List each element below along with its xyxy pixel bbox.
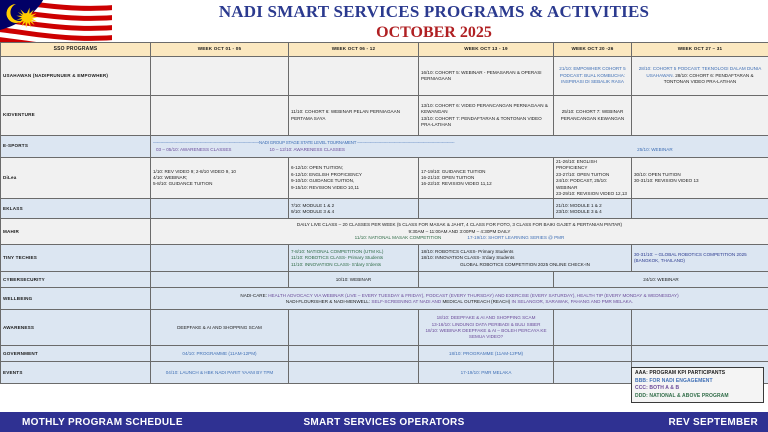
cell-kidventure-w3: 13/10: COHORT 6: VIDEO PERANCANGAN PERNI…: [419, 96, 554, 136]
table-header: SSO PROGRAMS WEEK OCT 01 - 05 WEEK OCT 0…: [1, 43, 768, 57]
cell-eklass-w2: 7/10: MODULE 1 & 2 9/10: MODULE 3 & 4: [289, 199, 419, 219]
row-label-government: GOVERNMENT: [1, 346, 151, 362]
column-header-week4: WEEK OCT 20 -26: [554, 43, 632, 57]
cell-esports-w2: 10 – 12/10: AWARENESS CLASSES: [266, 147, 383, 153]
cell-kidventure-w2: 11/10: COHORT 6: WEBINAR PELAN PERNIAGAA…: [289, 96, 419, 136]
wellbeing-line2: NADI-FLOURISHER & NADI-MENWELL: SELF-SCR…: [153, 299, 766, 305]
cell-kidventure-w1: [151, 96, 289, 136]
cell-awareness-w5: [632, 310, 768, 346]
row-label-cybersecurity: CYBERSECURITY: [1, 272, 151, 288]
cell-tiny-w3-lines: 18/10: ROBOTICS CLASS- Primary Students …: [421, 249, 629, 262]
row-label-events: EVENTS: [1, 362, 151, 384]
cell-tiny-w5: 30-31/10: – GLOBAL ROBOTICS COMPETITION …: [632, 245, 768, 272]
table-row-mahir: MAHIR DAILY LIVE CLASS – 20 CLASSES PER …: [1, 219, 768, 245]
table-row-wellbeing: WELLBEING NADI-CARE: HEALTH ADVOCACY VIA…: [1, 288, 768, 310]
row-label-eklass: EKLASS: [1, 199, 151, 219]
cell-events-w2: [289, 362, 419, 384]
cell-usahawan-w2: [289, 57, 419, 96]
cell-awareness-w3: 18/10: DEEPFAKE & AI AND SHOPPING SCAM 1…: [419, 310, 554, 346]
cell-gov-w2: [289, 346, 419, 362]
legend-aaa: AAA: PROGRAM KPI PARTICIPANTS: [635, 370, 760, 378]
page-title-block: NADI SMART SERVICES PROGRAMS & ACTIVITIE…: [112, 2, 756, 42]
cell-esports-span: ----------------------------------------…: [151, 136, 768, 158]
cell-mahir-span: DAILY LIVE CLASS – 20 CLASSES PER WEEK (…: [151, 219, 768, 245]
legend-ccc: CCC: BOTH A & B: [635, 385, 760, 393]
cell-cyber-w4: 24/10: WEBINAR: [554, 272, 768, 288]
column-header-week1: WEEK OCT 01 - 05: [151, 43, 289, 57]
cell-eklass-w4: 21/10: MODULE 1 & 2 23/10: MODULE 3 & 4: [554, 199, 632, 219]
cell-esports-w3: [383, 147, 544, 153]
cell-eklass-w1: [151, 199, 289, 219]
cell-tiny-w1: [151, 245, 289, 272]
cell-events-w1: 04/10: LAUNCH & HBK NADI PARIT YAANI BY …: [151, 362, 289, 384]
cell-usahawan-w5: 28/10: COHORT 5 PODCAST: TEKNOLOGI DALAM…: [632, 57, 768, 96]
column-header-sso: SSO PROGRAMS: [1, 43, 151, 57]
cell-dilea-w4: 21-26/10: ENGLISH PROFICIENCY 23-27/10: …: [554, 158, 632, 199]
schedule-page: NADI SMART SERVICES PROGRAMS & ACTIVITIE…: [0, 0, 768, 432]
column-header-week2: WEEK OCT 06 - 12: [289, 43, 419, 57]
cell-esports-w1: 03 – 05/10: AWARENESS CLASSES: [153, 147, 266, 153]
table-row-kidventure: KIDVENTURE 11/10: COHORT 6: WEBINAR PELA…: [1, 96, 768, 136]
table-row-tiny-techies: TINY TECHIES 7-8/10: NATIONAL COMPETITIO…: [1, 245, 768, 272]
table-header-row: SSO PROGRAMS WEEK OCT 01 - 05 WEEK OCT 0…: [1, 43, 768, 57]
cell-gov-w4: [554, 346, 632, 362]
table-row-dilea: DiLea 1/10: REV VIDEO 9; 2-8/10 VIDEO 9,…: [1, 158, 768, 199]
cell-kidventure-w4: 25/10: COHORT 7: WEBINAR PERANCANGAN KEW…: [554, 96, 632, 136]
wellbeing-nadicare-text: HEALTH ADVOCACY VIA WEBINAR (LIVE – EVER…: [267, 293, 679, 298]
cell-usahawan-w3: 16/10: COHORT 5: WEBINAR - PEMASARAN & O…: [419, 57, 554, 96]
cell-dilea-w5: 30/10: OPEN TUITION 30-31/10: REVISION V…: [632, 158, 768, 199]
legend-box: AAA: PROGRAM KPI PARTICIPANTS BBB: FOR N…: [631, 367, 764, 403]
wellbeing-reach-text: IN SELANGOR, SARAWAK, PAHANG AND PMR MEL…: [510, 299, 633, 304]
cell-tiny-w3: 18/10: ROBOTICS CLASS- Primary Students …: [419, 245, 632, 272]
cell-events-w3: 17-19/10: PMR MELAKA: [419, 362, 554, 384]
row-label-dilea: DiLea: [1, 158, 151, 199]
cell-cyber-w3: [419, 272, 554, 288]
cell-gov-w5: [632, 346, 768, 362]
footer-bar: MOTHLY PROGRAM SCHEDULE SMART SERVICES O…: [0, 412, 768, 432]
wellbeing-nadicare-label: NADI-CARE:: [240, 293, 267, 298]
page-subtitle: OCTOBER 2025: [112, 23, 756, 42]
cell-dilea-w3: 17-19/10: GUIDANCE TUITION 16-21/10: OPE…: [419, 158, 554, 199]
mahir-line3: 11/10: NATIONAL MASAK COMPETITION 17-19/…: [153, 235, 766, 241]
schedule-table: SSO PROGRAMS WEEK OCT 01 - 05 WEEK OCT 0…: [0, 42, 768, 384]
column-header-week3: WEEK OCT 13 - 19: [419, 43, 554, 57]
cell-dilea-w1: 1/10: REV VIDEO 9; 2-8/10 VIDEO 9, 10 4/…: [151, 158, 289, 199]
footer-middle-text: SMART SERVICES OPERATORS: [0, 417, 768, 428]
cell-awareness-w2: [289, 310, 419, 346]
column-header-week5: WEEK OCT 27 – 31: [632, 43, 768, 57]
cell-cyber-w2: 10/10: WEBINAR: [289, 272, 419, 288]
wellbeing-reach-label: MEDICAL OUTREACH (REACH): [442, 299, 510, 304]
cell-events-w4: [554, 362, 632, 384]
row-label-esports: E-SPORTS: [1, 136, 151, 158]
table-row-cybersecurity: CYBERSECURITY 10/10: WEBINAR 24/10: WEBI…: [1, 272, 768, 288]
cell-wellbeing-span: NADI-CARE: HEALTH ADVOCACY VIA WEBINAR (…: [151, 288, 768, 310]
cell-gov-w1: 04/10: PROGRAMME (11AM-12PM): [151, 346, 289, 362]
wellbeing-flourisher-label: NADI-FLOURISHER & NADI-MENWELL:: [286, 299, 370, 304]
wellbeing-flourisher-text: SELF-SCREENING AT NADI AND: [370, 299, 442, 304]
row-label-kidventure: KIDVENTURE: [1, 96, 151, 136]
mahir-masak-competition: 11/10: NATIONAL MASAK COMPETITION: [355, 235, 442, 241]
row-label-mahir: MAHIR: [1, 219, 151, 245]
table-row-esports: E-SPORTS -------------------------------…: [1, 136, 768, 158]
cell-dilea-w2: 6-12/10: OPEN TUITION; 6-12/10: ENGLISH …: [289, 158, 419, 199]
cell-kidventure-w5: [632, 96, 768, 136]
table-row-awareness: AWARENESS DEEPFAKE & AI AND SHOPPING SCA…: [1, 310, 768, 346]
malaysia-flag-icon: [0, 0, 112, 44]
table-row-usahawan: USAHAWAN (NADIPRUNUER & EMPOWHER) 16/10:…: [1, 57, 768, 96]
legend-bbb: BBB: FOR NADI ENGAGEMENT: [635, 378, 760, 386]
cell-usahawan-w1: [151, 57, 289, 96]
row-label-awareness: AWARENESS: [1, 310, 151, 346]
cell-awareness-w1: DEEPFAKE & AI AND SHOPPING SCAM: [151, 310, 289, 346]
cell-tiny-global-checkin: GLOBAL ROBOTICS COMPETITION 2025 ONLINE …: [421, 262, 629, 268]
row-label-usahawan: USAHAWAN (NADIPRUNUER & EMPOWHER): [1, 57, 151, 96]
cell-eklass-w5: [632, 199, 768, 219]
cell-eklass-w3: [419, 199, 554, 219]
cell-esports-w4: 25/10: WEBINAR: [544, 147, 766, 153]
cell-usahawan-w4: 21/10: EMPOWHER COHORT 5 PODCAST: BUAL K…: [554, 57, 632, 96]
mahir-short-learning-series: 17-19/10: SHORT LEARNING SERIES @ PMR: [467, 235, 564, 241]
row-label-tiny-techies: TINY TECHIES: [1, 245, 151, 272]
page-title: NADI SMART SERVICES PROGRAMS & ACTIVITIE…: [112, 2, 756, 22]
table-row-eklass: EKLASS 7/10: MODULE 1 & 2 9/10: MODULE 3…: [1, 199, 768, 219]
cell-tiny-w2: 7-8/10: NATIONAL COMPETITION (UTM KL) 11…: [289, 245, 419, 272]
legend-ddd: DDD: NATIONAL & ABOVE PROGRAM: [635, 393, 760, 401]
esports-weeks: 03 – 05/10: AWARENESS CLASSES 10 – 12/10…: [153, 147, 766, 153]
row-label-wellbeing: WELLBEING: [1, 288, 151, 310]
cell-cyber-w1: [151, 272, 289, 288]
cell-gov-w3: 18/10: PROGRAMME (11AM-12PM): [419, 346, 554, 362]
table-row-government: GOVERNMENT 04/10: PROGRAMME (11AM-12PM) …: [1, 346, 768, 362]
cell-awareness-w4: [554, 310, 632, 346]
cell-usahawan-w5-line2: 28/10: COHORT 6: PENDAFTARAN & TONTONAN …: [664, 73, 754, 84]
